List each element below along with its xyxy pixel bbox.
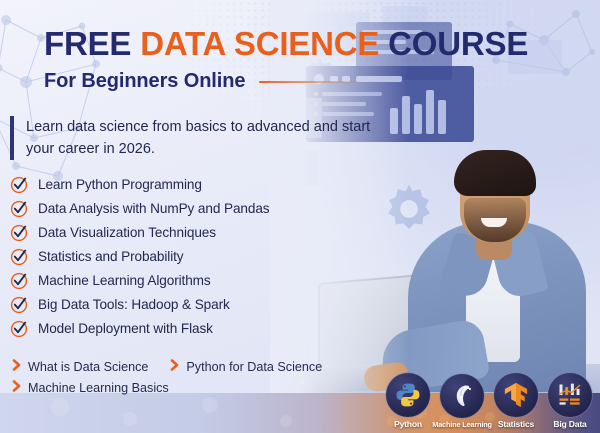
list-item: Data Visualization Techniques [10,220,355,244]
badge-label: Statistics [498,419,534,429]
badge-label: Big Data [553,419,586,429]
topic-tag[interactable]: Machine Learning Basics [12,379,169,397]
chevron-right-icon [12,358,22,376]
big-data-chart-icon [548,373,592,417]
check-circle-icon [10,175,29,194]
badge-big-data[interactable]: Big Data [544,373,596,429]
check-circle-icon [10,271,29,290]
page-title: FREE DATA SCIENCE COURSE [44,27,528,60]
list-item-label: Data Visualization Techniques [38,225,216,240]
list-item: Learn Python Programming [10,172,355,196]
course-feature-list: Learn Python Programming Data Analysis w… [10,172,355,340]
subtitle-divider [259,81,367,83]
list-item: Data Analysis with NumPy and Pandas [10,196,355,220]
badge-statistics[interactable]: Statistics [490,373,542,429]
check-circle-icon [10,223,29,242]
list-item-label: Big Data Tools: Hadoop & Spark [38,297,230,312]
list-item: Statistics and Probability [10,244,355,268]
list-item-label: Model Deployment with Flask [38,321,213,336]
tag-row-2: Machine Learning Basics [12,377,392,398]
badge-machine-learning[interactable]: Machine Learning [436,374,488,429]
course-promo-banner: FREE DATA SCIENCE COURSE For Beginners O… [0,0,600,433]
title-part-1: FREE [44,25,140,62]
technology-badges: Python [382,373,596,429]
topic-tag-label: Machine Learning Basics [28,381,169,395]
check-circle-icon [10,319,29,338]
topic-tag-label: What is Data Science [28,360,148,374]
title-highlight: DATA SCIENCE [140,25,379,62]
check-circle-icon [10,199,29,218]
title-part-2: COURSE [379,25,528,62]
list-item: Big Data Tools: Hadoop & Spark [10,292,355,316]
list-item-label: Statistics and Probability [38,249,184,264]
topic-tag-list: What is Data Science Python for Data Sci… [12,356,392,398]
topic-tag[interactable]: Python for Data Science [170,358,322,376]
check-circle-icon [10,295,29,314]
subtitle-row: For Beginners Online [44,70,367,93]
tensorflow-statistics-icon [494,373,538,417]
list-item-label: Data Analysis with NumPy and Pandas [38,201,270,216]
list-item: Machine Learning Algorithms [10,268,355,292]
check-circle-icon [10,247,29,266]
badge-label: Machine Learning [432,420,492,429]
list-item-label: Machine Learning Algorithms [38,273,211,288]
python-logo-icon [386,373,430,417]
chevron-right-icon [12,379,22,397]
subtitle: For Beginners Online [44,70,245,93]
topic-tag[interactable]: What is Data Science [12,358,148,376]
topic-tag-label: Python for Data Science [186,360,322,374]
machine-learning-brain-icon [440,374,484,418]
list-item-label: Learn Python Programming [38,177,202,192]
tag-row-1: What is Data Science Python for Data Sci… [12,356,392,377]
badge-label: Python [394,419,422,429]
chevron-right-icon [170,358,180,376]
badge-python[interactable]: Python [382,373,434,429]
list-item: Model Deployment with Flask [10,316,355,340]
description-text: Learn data science from basics to advanc… [10,116,386,160]
